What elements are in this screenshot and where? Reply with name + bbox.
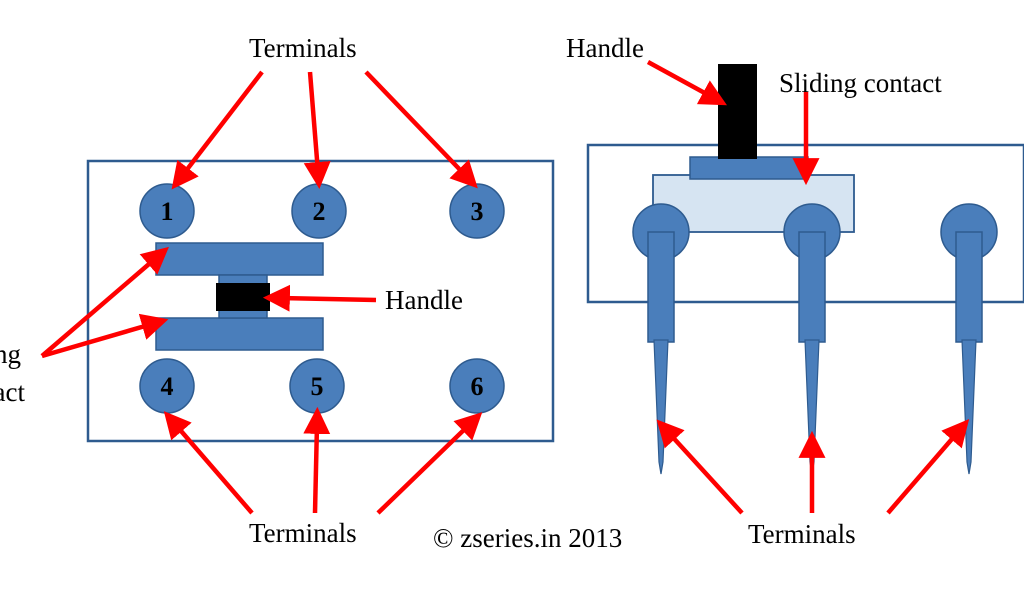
arrow-handle-left [280,298,376,300]
label-sliding-contact-right: Sliding contact [779,70,942,97]
left-terminal-3: 3 [450,184,504,238]
left-terminal-5: 5 [290,359,344,413]
arrow-terminals-bottom-2 [315,424,317,513]
terminal-number-2: 2 [313,197,326,226]
left-terminal-6: 6 [450,359,504,413]
diagram-canvas: 1 2 3 4 5 6 [0,0,1024,600]
right-terminal-middle [784,204,840,474]
terminal-number-4: 4 [161,372,174,401]
left-terminal-1: 1 [140,184,194,238]
label-sliding-contact-left-line1: ng [0,341,21,368]
right-handle [718,64,757,159]
arrow-handle-right [648,62,712,97]
right-terminal-left [633,204,689,474]
label-sliding-contact-left-line2: tact [0,379,25,406]
terminal-number-5: 5 [311,372,324,401]
label-handle-right: Handle [566,35,644,62]
left-terminal-2: 2 [292,184,346,238]
label-terminals-right: Terminals [748,521,856,548]
terminal-number-1: 1 [161,197,174,226]
terminal-number-3: 3 [471,197,484,226]
arrow-right-terminals-3 [888,432,958,513]
copyright-text: © zseries.in 2013 [433,523,622,554]
label-handle-left: Handle [385,287,463,314]
upper-sliding-contact [156,243,323,275]
label-terminals-top: Terminals [249,35,357,62]
left-terminal-4: 4 [140,359,194,413]
right-terminal-right [941,204,997,474]
label-terminals-bottom: Terminals [249,520,357,547]
terminal-number-6: 6 [471,372,484,401]
arrow-terminals-top-2 [310,72,318,172]
lower-sliding-contact [156,318,323,350]
left-handle [216,283,270,311]
arrow-right-terminals-1 [668,432,742,513]
